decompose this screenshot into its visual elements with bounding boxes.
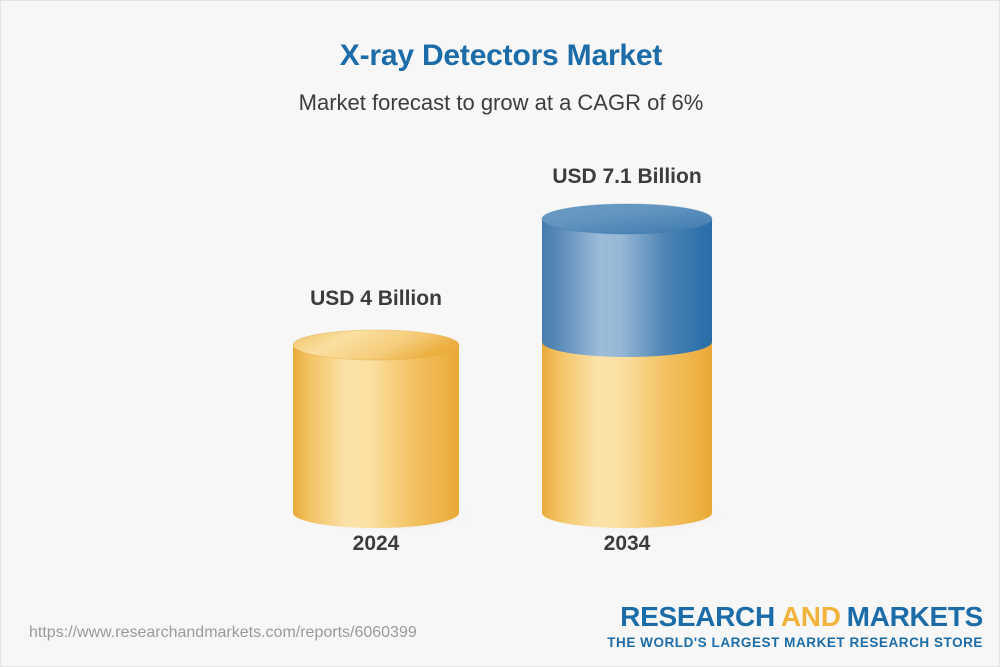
value-label-2024: USD 4 Billion [256, 287, 496, 311]
category-label-2034: 2034 [507, 532, 747, 556]
cylinder-bar-chart [1, 1, 1000, 601]
source-url[interactable]: https://www.researchandmarkets.com/repor… [29, 624, 417, 642]
chart-plot-area: USD 4 Billion USD 7.1 Billion 2024 2034 [1, 1, 1000, 601]
value-label-2034: USD 7.1 Billion [507, 165, 747, 189]
infographic-canvas: X-ray Detectors Market Market forecast t… [0, 0, 1000, 667]
bar-2034-lower-segment [542, 342, 712, 528]
logo-word-research: RESEARCH [620, 601, 775, 632]
logo-word-markets: MARKETS [847, 601, 983, 632]
research-and-markets-logo[interactable]: RESEARCHANDMARKETS THE WORLD'S LARGEST M… [607, 603, 983, 650]
logo-wordmark: RESEARCHANDMARKETS [607, 603, 983, 631]
bar-2024-body [293, 345, 459, 528]
logo-tagline: THE WORLD'S LARGEST MARKET RESEARCH STOR… [607, 636, 983, 650]
bar-2034 [539, 204, 735, 533]
logo-word-and: AND [781, 601, 841, 632]
category-label-2024: 2024 [256, 532, 496, 556]
bar-2024 [290, 330, 482, 533]
bar-2034-upper-segment [542, 219, 712, 357]
